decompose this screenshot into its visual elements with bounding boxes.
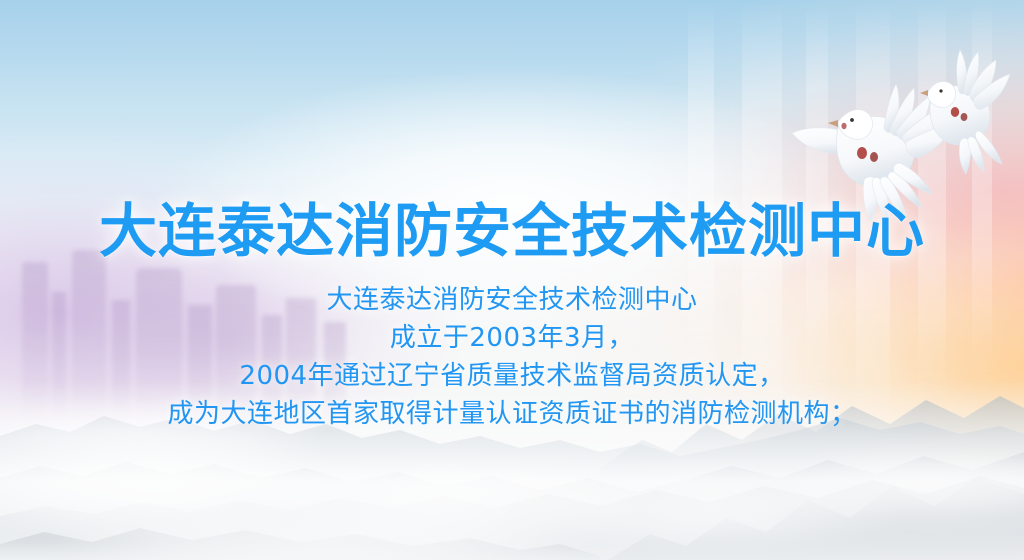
page-title: 大连泰达消防安全技术检测中心 (0, 202, 1024, 260)
description-line-4: 成为大连地区首家取得计量认证资质证书的消防检测机构； (0, 395, 1024, 433)
description-line-1: 大连泰达消防安全技术检测中心 (0, 281, 1024, 319)
description-line-3: 2004年通过辽宁省质量技术监督局资质认定， (0, 357, 1024, 395)
description-line-2: 成立于2003年3月， (0, 319, 1024, 357)
description-text: 大连泰达消防安全技术检测中心 成立于2003年3月， 2004年通过辽宁省质量技… (0, 281, 1024, 433)
misty-mountain-range (0, 0, 1024, 560)
banner-canvas: 大连泰达消防安全技术检测中心 大连泰达消防安全技术检测中心 成立于2003年3月… (0, 0, 1024, 560)
